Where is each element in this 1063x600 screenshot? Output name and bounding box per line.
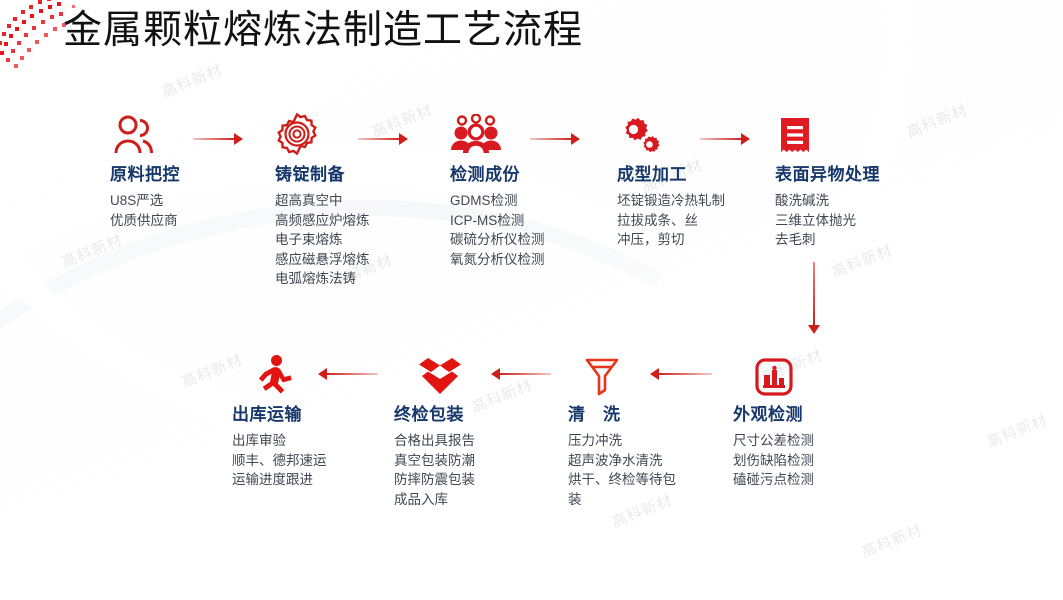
step-list-item: 磕碰污点检测	[733, 470, 814, 490]
step-icon-wrapper	[568, 352, 686, 396]
page-title: 金属颗粒熔炼法制造工艺流程	[63, 6, 583, 56]
step-list-item: 运输进度跟进	[232, 470, 327, 490]
step-item-list: 坯锭锻造冷热轧制 拉拔成条、丝 冲压，剪切	[617, 191, 725, 250]
arrow-step1-to-step2	[193, 133, 243, 145]
step-title: 外观检测	[733, 404, 814, 426]
step-list-item: 超高真空中	[275, 191, 370, 211]
step-list-item: 真空包装防潮	[394, 451, 475, 471]
watermark: 高科新材	[158, 59, 225, 102]
step-item-list: 合格出具报告 真空包装防潮 防摔防震包装 成品入库	[394, 431, 475, 509]
watermark: 高科新材	[983, 409, 1050, 452]
step-title: 检测成份	[450, 164, 545, 186]
step-item-list: 尺寸公差检测 划伤缺陷检测 磕碰污点检测	[733, 431, 814, 490]
step-outbound-transport[interactable]: 出库运输 出库审验 顺丰、德邦速运 运输进度跟进	[232, 352, 327, 490]
factory-badge-icon	[755, 358, 793, 396]
step-list-item: 坯锭锻造冷热轧制	[617, 191, 725, 211]
step-list-item: 优质供应商	[110, 211, 180, 231]
step-list-item: 高频感应炉熔炼	[275, 211, 370, 231]
step-icon-wrapper	[275, 112, 370, 156]
step-title: 成型加工	[617, 164, 725, 186]
step-list-item: ICP-MS检测	[450, 211, 545, 231]
step-icon-wrapper	[775, 112, 880, 156]
step-composition-testing[interactable]: 检测成份 GDMS检测 ICP-MS检测 碳硫分析仪检测 氧氮分析仪检测	[450, 112, 545, 269]
step-cleaning[interactable]: 清 洗 压力冲洗 超声波净水清洗 烘干、终检等待包装	[568, 352, 686, 509]
step-list-item: 酸洗碱洗	[775, 191, 880, 211]
step-item-list: 超高真空中 高频感应炉熔炼 电子束熔炼 感应磁悬浮熔炼 电弧熔炼法铸	[275, 191, 370, 289]
arrow-head	[808, 325, 820, 334]
step-list-item: 超声波净水清洗	[568, 451, 686, 471]
arrow-shaft	[499, 373, 551, 375]
arrow-step7-to-step8	[491, 368, 551, 380]
step-icon-wrapper	[733, 352, 814, 396]
document-lines-icon	[775, 114, 815, 156]
step-list-item: 三维立体抛光	[775, 211, 880, 231]
step-item-list: 压力冲洗 超声波净水清洗 烘干、终检等待包装	[568, 431, 686, 509]
arrow-shaft	[326, 373, 378, 375]
step-list-item: 碳硫分析仪检测	[450, 230, 545, 250]
step-list-item: 尺寸公差检测	[733, 431, 814, 451]
step-list-item: 划伤缺陷检测	[733, 451, 814, 471]
step-final-inspection-packaging[interactable]: 终检包装 合格出具报告 真空包装防潮 防摔防震包装 成品入库	[394, 352, 475, 509]
step-title: 铸锭制备	[275, 164, 370, 186]
watermark: 高科新材	[903, 99, 970, 142]
arrow-step5-to-step6	[808, 262, 820, 334]
step-surface-treatment[interactable]: 表面异物处理 酸洗碱洗 三维立体抛光 去毛刺	[775, 112, 880, 250]
step-list-item: U8S严选	[110, 191, 180, 211]
arrow-shaft	[193, 138, 235, 140]
step-list-item: 电子束熔炼	[275, 230, 370, 250]
step-title: 原料把控	[110, 164, 180, 186]
background-decoration	[0, 0, 1063, 600]
step-item-list: U8S严选 优质供应商	[110, 191, 180, 230]
step-raw-material-control[interactable]: 原料把控 U8S严选 优质供应商	[110, 112, 180, 230]
step-list-item: 去毛刺	[775, 230, 880, 250]
step-ingot-preparation[interactable]: 铸锭制备 超高真空中 高频感应炉熔炼 电子束熔炼 感应磁悬浮熔炼 电弧熔炼法铸	[275, 112, 370, 289]
step-list-item: 防摔防震包装	[394, 470, 475, 490]
double-gear-icon	[617, 114, 663, 156]
step-appearance-inspection[interactable]: 外观检测 尺寸公差检测 划伤缺陷检测 磕碰污点检测	[733, 352, 814, 490]
background-wash	[0, 0, 1063, 600]
arrow-step8-to-step9	[318, 368, 378, 380]
step-list-item: 压力冲洗	[568, 431, 686, 451]
step-list-item: 电弧熔炼法铸	[275, 269, 370, 289]
step-icon-wrapper	[232, 352, 327, 396]
step-list-item: 感应磁悬浮熔炼	[275, 250, 370, 270]
step-item-list: 酸洗碱洗 三维立体抛光 去毛刺	[775, 191, 880, 250]
step-list-item: 氧氮分析仪检测	[450, 250, 545, 270]
step-title: 清 洗	[568, 404, 686, 426]
step-list-item: 合格出具报告	[394, 431, 475, 451]
watermark: 高科新材	[468, 374, 535, 417]
funnel-icon	[584, 356, 620, 396]
step-icon-wrapper	[110, 112, 180, 156]
step-icon-wrapper	[394, 352, 475, 396]
step-list-item: 烘干、终检等待包装	[568, 470, 686, 509]
step-list-item: 成品入库	[394, 490, 475, 510]
arrow-head	[234, 133, 243, 145]
people-group-icon	[450, 114, 502, 156]
watermark: 高科新材	[58, 229, 125, 272]
step-title: 表面异物处理	[775, 164, 880, 186]
arrow-head	[571, 133, 580, 145]
step-list-item: 冲压，剪切	[617, 230, 725, 250]
users-icon	[110, 114, 156, 156]
arrow-head	[399, 133, 408, 145]
step-title: 出库运输	[232, 404, 327, 426]
step-item-list: 出库审验 顺丰、德邦速运 运输进度跟进	[232, 431, 327, 490]
step-forming-processing[interactable]: 成型加工 坯锭锻造冷热轧制 拉拔成条、丝 冲压，剪切	[617, 112, 725, 250]
arrow-shaft	[813, 262, 815, 326]
step-list-item: GDMS检测	[450, 191, 545, 211]
walking-person-icon	[254, 354, 294, 396]
arrow-head	[491, 368, 500, 380]
step-item-list: GDMS检测 ICP-MS检测 碳硫分析仪检测 氧氮分析仪检测	[450, 191, 545, 269]
step-list-item: 出库审验	[232, 431, 327, 451]
step-icon-wrapper	[450, 112, 545, 156]
diagonal-stripe-texture	[0, 0, 1063, 600]
step-list-item: 顺丰、德邦速运	[232, 451, 327, 471]
gear-target-icon	[275, 112, 319, 156]
step-title: 终检包装	[394, 404, 475, 426]
step-list-item: 拉拔成条、丝	[617, 211, 725, 231]
arrow-head	[741, 133, 750, 145]
watermark: 高科新材	[858, 519, 925, 562]
step-icon-wrapper	[617, 112, 725, 156]
open-box-icon	[416, 356, 464, 396]
